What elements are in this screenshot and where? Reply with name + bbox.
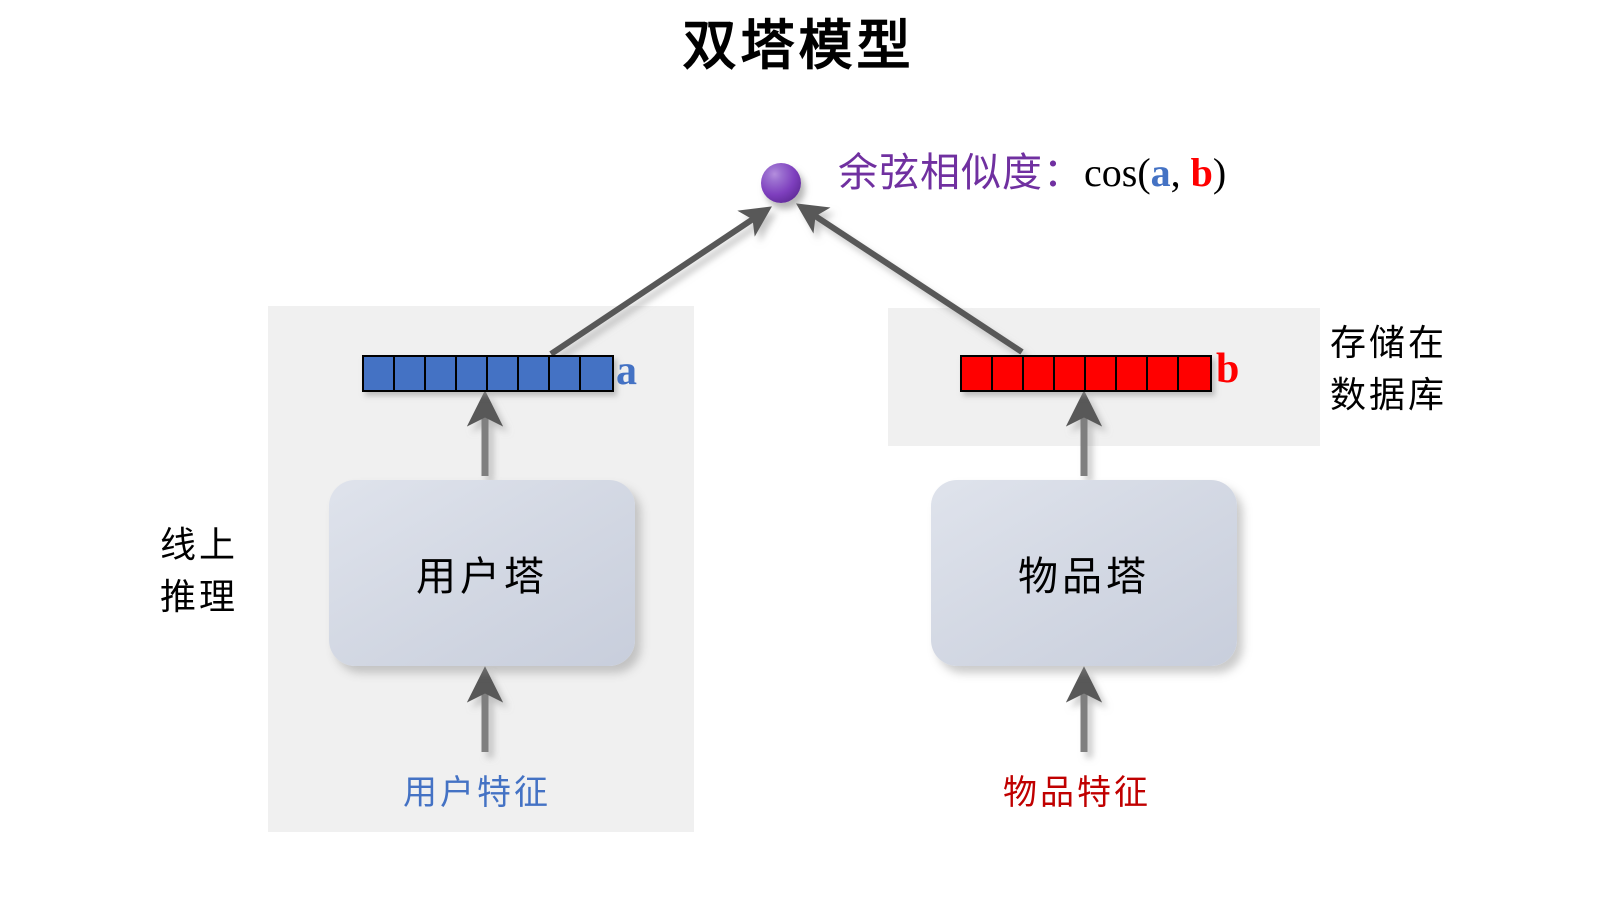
online-inference-note-line2: 推理 [160, 572, 238, 624]
cosine-similarity-text: 余弦相似度： [838, 150, 1084, 196]
item-embedding-label: b [1216, 348, 1239, 390]
vector-cell [1117, 357, 1148, 390]
cos-function-open: cos( [1084, 150, 1151, 195]
similarity-node-sphere [761, 163, 801, 203]
storage-note: 存储在 数据库 [1330, 318, 1447, 422]
user-tower-label: 用户塔 [416, 544, 548, 602]
vector-cell [519, 357, 550, 390]
vector-cell [581, 357, 612, 390]
vector-cell [364, 357, 395, 390]
vector-cell [426, 357, 457, 390]
page-title: 双塔模型 [0, 16, 1597, 75]
vector-cell [1179, 357, 1210, 390]
item-tower-box: 物品塔 [931, 480, 1237, 666]
user-embedding-vector [362, 355, 614, 392]
cos-arg-a: a [1151, 150, 1171, 195]
item-features-label: 物品特征 [1003, 765, 1151, 814]
vector-cell [550, 357, 581, 390]
cos-function-close: ) [1213, 150, 1226, 195]
vector-cell [993, 357, 1024, 390]
vector-cell [1086, 357, 1117, 390]
user-features-label: 用户特征 [403, 765, 551, 814]
vector-cell [1024, 357, 1055, 390]
user-tower-box: 用户塔 [329, 480, 635, 666]
vector-cell [1148, 357, 1179, 390]
vector-cell [395, 357, 426, 390]
item-tower-label: 物品塔 [1018, 544, 1150, 602]
online-inference-note: 线上 推理 [160, 520, 238, 624]
cos-arg-b: b [1191, 150, 1213, 195]
storage-note-line2: 数据库 [1330, 370, 1447, 422]
vector-cell [1055, 357, 1086, 390]
item-embedding-vector [960, 355, 1212, 392]
similarity-arrows [0, 0, 1597, 898]
vector-cell [962, 357, 993, 390]
cosine-similarity-label: 余弦相似度：cos(a, b) [838, 153, 1226, 193]
storage-note-line1: 存储在 [1330, 318, 1447, 370]
vector-cell [457, 357, 488, 390]
online-inference-note-line1: 线上 [160, 520, 238, 572]
user-embedding-label: a [616, 350, 637, 392]
slide-canvas: 双塔模型 余弦相似度：cos(a, b) [0, 0, 1597, 898]
cos-arg-separator: , [1171, 150, 1191, 195]
vector-cell [488, 357, 519, 390]
